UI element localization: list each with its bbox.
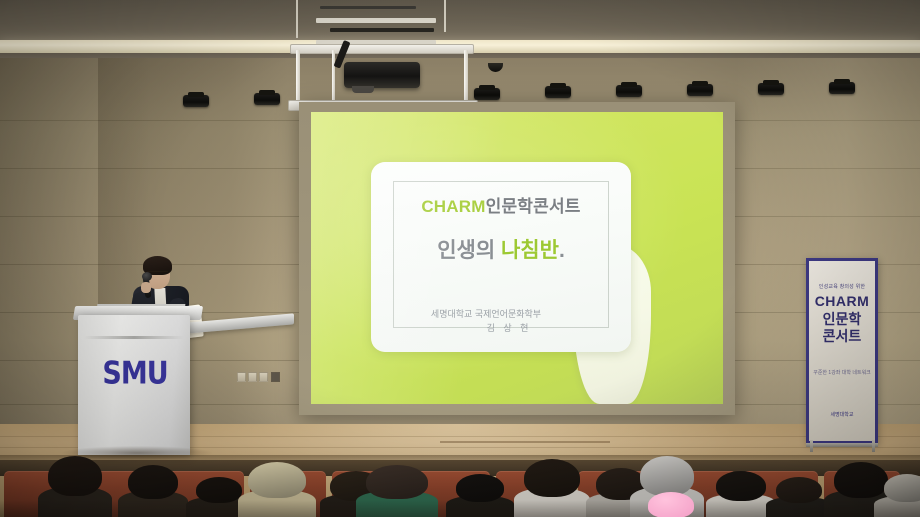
banner-title-line3: 콘서트 <box>809 326 875 346</box>
podium-groove <box>84 336 184 339</box>
slide-text-card: CHARM인문학콘서트 인생의 나침반. 세명대학교 국제언어문화학부 김 상 … <box>371 162 631 352</box>
slide-subtitle-tail: . <box>559 239 565 262</box>
scissor-lift-arm <box>330 28 434 32</box>
banner-leg <box>872 440 875 452</box>
speaker-hand <box>141 282 151 293</box>
presentation-slide: CHARM인문학콘서트 인생의 나침반. 세명대학교 국제언어문화학부 김 상 … <box>311 112 723 404</box>
rig-chain <box>296 0 298 38</box>
slide-title-rest: 인문학콘서트 <box>486 197 581 216</box>
scissor-lift-arm <box>316 18 436 23</box>
ceiling-spotlight <box>183 95 209 107</box>
slide-subtitle: 인생의 나침반. <box>371 234 631 264</box>
wall-outlet-plate <box>248 372 257 382</box>
projection-screen: CHARM인문학콘서트 인생의 나침반. 세명대학교 국제언어문화학부 김 상 … <box>299 102 735 415</box>
wall-socket-plate <box>271 372 280 382</box>
rig-post <box>332 50 335 106</box>
floor-seam <box>440 441 610 443</box>
ceiling <box>0 0 920 42</box>
wall-outlet-plate <box>259 372 268 382</box>
microphone-head-icon <box>142 272 152 281</box>
rig-post <box>296 50 300 106</box>
ceiling-spotlight <box>545 86 571 98</box>
slide-presenter-name: 김 상 현 <box>371 322 601 336</box>
audience-head <box>48 456 102 496</box>
rollup-banner: 인성교육 창의성 위한 CHARM 인문학 콘서트 꾸준한 1강좌 대학 네트워… <box>806 258 878 444</box>
audience-head <box>128 465 178 499</box>
audience-head <box>456 474 504 502</box>
audience-head <box>716 471 766 501</box>
slide-credit: 세명대학교 국제언어문화학부 김 상 현 <box>371 308 601 335</box>
banner-title-charm: CHARM <box>809 293 875 309</box>
foreground-shadow <box>0 500 920 517</box>
slide-title-highlight: CHARM <box>421 197 485 216</box>
audience-head <box>834 462 888 498</box>
rig-post <box>464 50 468 106</box>
audience-head <box>640 456 694 496</box>
ceiling-spotlight <box>474 88 500 100</box>
ceiling-spotlight <box>616 85 642 97</box>
ceiling-spotlight <box>687 84 713 96</box>
podium-logo: SMU <box>92 356 178 392</box>
banner-leg <box>810 440 813 452</box>
banner-base <box>806 443 878 447</box>
slide-title: CHARM인문학콘서트 <box>371 192 631 217</box>
audience-head <box>884 474 920 502</box>
slide-subtitle-highlight: 나침반 <box>501 239 559 262</box>
banner-kicker: 인성교육 창의성 위한 <box>809 283 875 290</box>
audience-head <box>248 462 306 498</box>
audience-head <box>524 459 580 497</box>
projector <box>344 62 420 88</box>
scissor-lift-arm <box>320 6 416 9</box>
audience-head <box>366 465 428 499</box>
rig-chain <box>444 0 446 32</box>
banner-logo: 세명대학교 <box>809 411 875 418</box>
projector-mount-plate-top <box>290 44 474 54</box>
pink-hat <box>648 492 694 517</box>
ceiling-spotlight <box>829 82 855 94</box>
banner-note: 꾸준한 1강좌 대학 네트워크 <box>809 369 875 378</box>
slide-affiliation: 세명대학교 국제언어문화학부 <box>431 309 541 319</box>
slide-subtitle-plain: 인생의 <box>437 239 501 262</box>
ceiling-spotlight <box>254 93 280 105</box>
projector-lens-icon <box>352 86 374 93</box>
ceiling-spotlight <box>758 83 784 95</box>
auditorium-photo: CHARM인문학콘서트 인생의 나침반. 세명대학교 국제언어문화학부 김 상 … <box>0 0 920 517</box>
wall-outlet-plate <box>237 372 246 382</box>
